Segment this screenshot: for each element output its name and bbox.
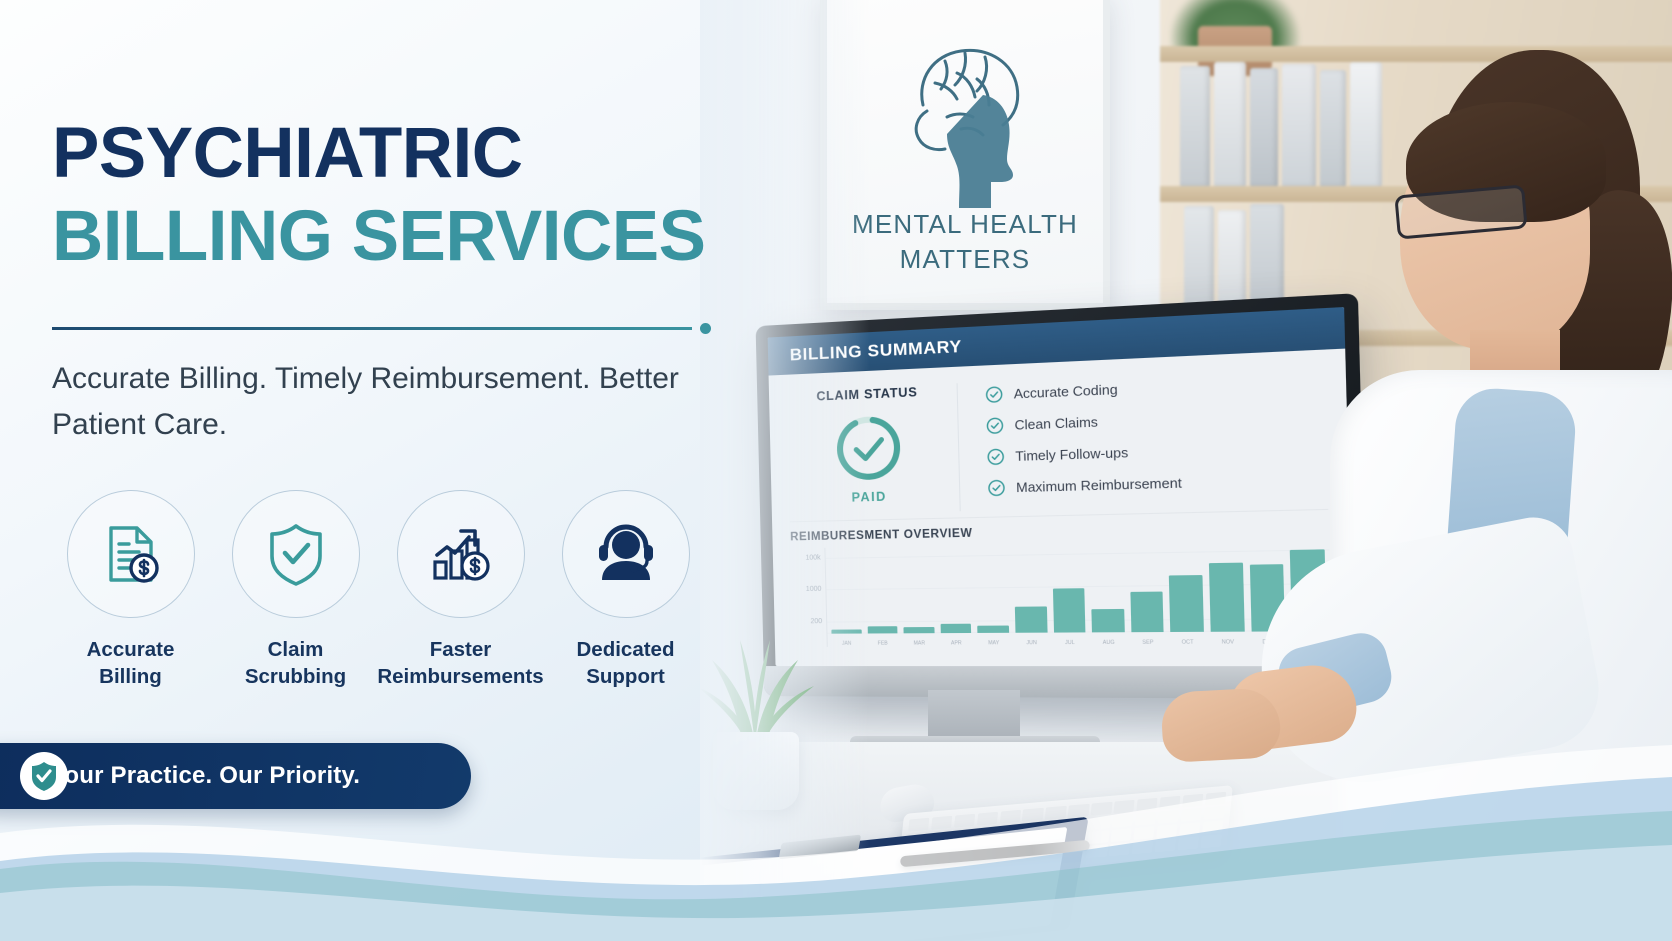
- divider-line: [52, 327, 692, 330]
- feature-label-line1: Faster: [430, 638, 492, 661]
- chart-x-label: FEB: [868, 641, 898, 647]
- office-photo-scene: MENTAL HEALTH MATTERS BILLING SUMMARY CL…: [700, 0, 1672, 941]
- badge-icon-wrap: [20, 752, 68, 800]
- document-dollar-icon: [97, 520, 165, 588]
- feature-icon-circle: [67, 490, 195, 618]
- headline: PSYCHIATRIC BILLING SERVICES: [52, 118, 705, 272]
- tagline-badge: Your Practice. Our Priority.: [0, 743, 471, 809]
- chart-x-label: SEP: [1131, 639, 1164, 645]
- circle-check-icon: [985, 385, 1003, 403]
- checklist-item-label: Maximum Reimbursement: [1016, 475, 1182, 495]
- chart-bar: [1053, 588, 1086, 633]
- feature-accurate-billing[interactable]: Accurate Billing: [48, 490, 213, 690]
- chart-bar: [1130, 592, 1164, 632]
- left-content: PSYCHIATRIC BILLING SERVICES Accurate Bi…: [0, 0, 760, 941]
- chart-bar: [940, 624, 971, 634]
- badge-text: Your Practice. Our Priority.: [50, 762, 360, 790]
- chart-x-label: JUN: [1016, 640, 1048, 646]
- chart-x-label: JUL: [1054, 640, 1086, 646]
- chart-x-label: MAR: [904, 640, 935, 646]
- feature-icon-circle: [397, 490, 525, 618]
- chart-bar: [867, 626, 897, 634]
- chart-x-label: MAY: [978, 640, 1009, 646]
- circle-check-icon: [986, 417, 1004, 435]
- feature-faster-reimbursements[interactable]: Faster Reimbursements: [378, 490, 543, 690]
- checklist-item-label: Accurate Coding: [1014, 381, 1118, 401]
- feature-label-line1: Accurate: [87, 638, 175, 661]
- binder: [1180, 66, 1210, 186]
- chart-x-label: AUG: [1092, 640, 1125, 646]
- feature-claim-scrubbing[interactable]: Claim Scrubbing: [213, 490, 378, 690]
- feature-label-line1: Dedicated: [577, 638, 675, 661]
- headset-agent-icon: [592, 520, 660, 588]
- feature-label-line2: Scrubbing: [245, 665, 346, 688]
- checklist-item-label: Clean Claims: [1014, 414, 1098, 433]
- chart-bar: [978, 626, 1009, 633]
- feature-icon-circle: [232, 490, 360, 618]
- feature-label-line2: Reimbursements: [377, 665, 543, 688]
- chart-bar: [1015, 606, 1047, 633]
- circle-check-icon: [987, 448, 1005, 466]
- feature-label-line2: Support: [586, 665, 665, 688]
- headline-line2: BILLING SERVICES: [52, 201, 705, 272]
- monitor-stand-neck: [928, 690, 1020, 742]
- bar-chart-growth-dollar-icon: [427, 520, 495, 588]
- divider: [52, 322, 712, 334]
- feature-label: Dedicated Support: [577, 636, 675, 690]
- feature-icon-circle: [562, 490, 690, 618]
- brain-head-profile-icon: [865, 31, 1065, 221]
- feature-label: Claim Scrubbing: [245, 636, 346, 690]
- feature-list: Accurate Billing Claim Scrubbing: [48, 490, 708, 690]
- poster-title-line2: MATTERS: [900, 244, 1031, 274]
- feature-label: Faster Reimbursements: [377, 636, 543, 690]
- divider-dot: [700, 323, 711, 334]
- marketing-banner: MENTAL HEALTH MATTERS BILLING SUMMARY CL…: [0, 0, 1672, 941]
- hand-left: [1160, 687, 1282, 763]
- chart-x-label: APR: [941, 640, 972, 646]
- shield-check-icon: [27, 759, 61, 793]
- circle-check-icon: [987, 479, 1005, 497]
- subtitle: Accurate Billing. Timely Reimbursement. …: [52, 356, 692, 447]
- chart-bar: [1092, 608, 1125, 632]
- headline-line1: PSYCHIATRIC: [52, 118, 705, 189]
- feature-dedicated-support[interactable]: Dedicated Support: [543, 490, 708, 690]
- poster-title-line1: MENTAL HEALTH: [852, 209, 1078, 239]
- checklist-item-label: Timely Follow-ups: [1015, 445, 1128, 464]
- feature-label-line2: Billing: [99, 665, 162, 688]
- shield-check-icon: [262, 520, 330, 588]
- feature-label: Accurate Billing: [87, 636, 175, 690]
- chart-x-label: OCT: [1171, 639, 1204, 646]
- clinician-person: [1220, 40, 1672, 941]
- chart-bar: [1169, 575, 1204, 632]
- chart-bar: [904, 627, 935, 633]
- feature-label-line1: Claim: [268, 638, 324, 661]
